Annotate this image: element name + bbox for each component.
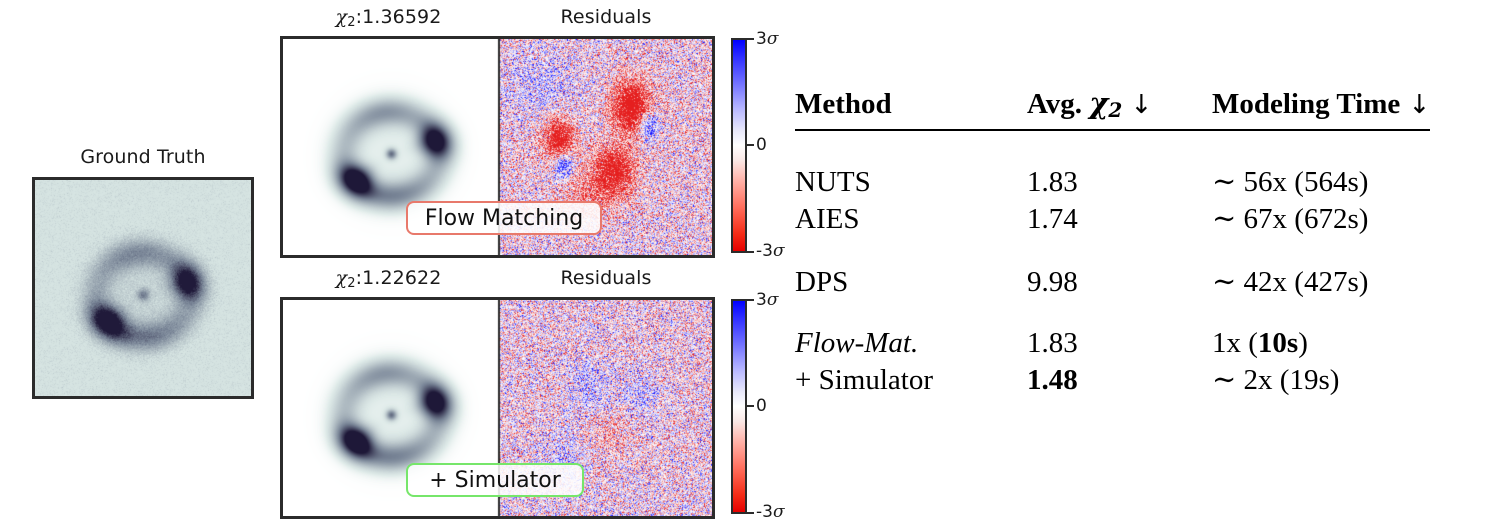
flow-matching-badge-label: Flow Matching xyxy=(425,206,583,231)
chi-subscript: 2 xyxy=(347,15,355,30)
sigma-glyph-top-neg: σ xyxy=(773,241,785,261)
cell-method: + Simulator xyxy=(795,361,1027,398)
time-value-suffix: ) xyxy=(1298,327,1308,359)
simulator-residual-title: Residuals xyxy=(497,267,715,289)
ground-truth-title: Ground Truth xyxy=(32,146,254,168)
header-chi-arrow-icon: ↓ xyxy=(1122,90,1152,120)
time-value: ∼ 42x (427s) xyxy=(1212,266,1368,298)
table-row: Flow-Mat.1.831x (10s) xyxy=(795,326,1430,361)
ground-truth-panel xyxy=(32,177,254,399)
header-method: Method xyxy=(795,86,1027,130)
colorbar-tick-top-zero xyxy=(747,144,754,146)
table-header-row: Method Avg. χ2 ↓ Modeling Time ↓ xyxy=(795,86,1430,130)
colorbar-label-bottom-3sigma: 3σ xyxy=(756,290,778,310)
colorbar-label-top-zero: 0 xyxy=(756,135,767,155)
chi-symbol-2: χ xyxy=(336,267,348,289)
comparison-table: Method Avg. χ2 ↓ Modeling Time ↓ NUTS1.8… xyxy=(795,86,1430,398)
header-modeling-time: Modeling Time ↓ xyxy=(1212,86,1430,130)
table-head: Method Avg. χ2 ↓ Modeling Time ↓ xyxy=(795,86,1430,130)
header-avg-prefix: Avg. xyxy=(1027,88,1089,120)
header-chi-subscript: 2 xyxy=(1108,98,1122,122)
method-label: NUTS xyxy=(795,166,871,198)
flow-matching-badge: Flow Matching xyxy=(406,201,602,235)
table-row: DPS9.98∼ 42x (427s) xyxy=(795,263,1430,300)
chi2-value: 9.98 xyxy=(1027,266,1078,298)
method-label: DPS xyxy=(795,266,848,298)
time-value-prefix: 1x ( xyxy=(1212,327,1258,359)
cell-method: Flow-Mat. xyxy=(795,326,1027,361)
colorbar-tick-bottom-zero xyxy=(747,405,754,407)
chi2-value: 1.74 xyxy=(1027,203,1078,235)
cell-method: AIES xyxy=(795,200,1027,237)
table-header-spacer xyxy=(795,130,1430,163)
header-chi-symbol: χ xyxy=(1089,86,1108,120)
sigma-glyph-bottom: σ xyxy=(767,290,779,310)
figure-root: Ground Truth χ2:1.36592 Residuals Flow M… xyxy=(0,0,1509,532)
chi-subscript-2: 2 xyxy=(347,276,355,291)
cell-modeling-time: ∼ 2x (19s) xyxy=(1212,361,1430,398)
time-value: ∼ 67x (672s) xyxy=(1212,203,1368,235)
table-row: AIES1.74∼ 67x (672s) xyxy=(795,200,1430,237)
method-label: AIES xyxy=(795,203,859,235)
time-value: ∼ 56x (564s) xyxy=(1212,166,1368,198)
chi2-value: 1.83 xyxy=(1027,327,1078,359)
cell-method: DPS xyxy=(795,263,1027,300)
time-value-highlight: 10s xyxy=(1258,327,1298,359)
cell-modeling-time: 1x (10s) xyxy=(1212,326,1430,361)
table-row: NUTS1.83∼ 56x (564s) xyxy=(795,163,1430,200)
colorbar-label-top-3sigma: 3σ xyxy=(756,29,778,49)
header-avg-chi2: Avg. χ2 ↓ xyxy=(1027,86,1212,130)
table-row: + Simulator1.48∼ 2x (19s) xyxy=(795,361,1430,398)
simulator-colorbar: 3σ 0 -3σ xyxy=(731,299,747,514)
simulator-badge: + Simulator xyxy=(406,463,584,497)
colorbar-gradient-top xyxy=(731,38,747,253)
cell-avg-chi2: 1.83 xyxy=(1027,326,1212,361)
cell-modeling-time: ∼ 56x (564s) xyxy=(1212,163,1430,200)
method-label: + Simulator xyxy=(795,364,933,396)
cell-avg-chi2: 1.48 xyxy=(1027,361,1212,398)
sigma-glyph-bottom-neg: σ xyxy=(773,502,785,522)
colorbar-tick-top-3sigma xyxy=(747,38,754,40)
cell-avg-chi2: 1.74 xyxy=(1027,200,1212,237)
results-table: Method Avg. χ2 ↓ Modeling Time ↓ NUTS1.8… xyxy=(795,86,1430,398)
colorbar-tick-top-neg3sigma xyxy=(747,251,754,253)
sigma-glyph-top: σ xyxy=(767,29,779,49)
table-group-spacer xyxy=(795,237,1430,263)
header-time-arrow-icon: ↓ xyxy=(1400,90,1430,120)
colorbar-tick-bottom-neg3sigma xyxy=(747,512,754,514)
simulator-chi-title: χ2:1.22622 xyxy=(280,267,497,291)
cell-avg-chi2: 1.83 xyxy=(1027,163,1212,200)
table-group-spacer xyxy=(795,300,1430,326)
simulator-badge-label: + Simulator xyxy=(429,468,561,493)
colorbar-label-top-neg3sigma: -3σ xyxy=(756,241,785,261)
method-label: Flow-Mat. xyxy=(795,327,918,359)
cell-method: NUTS xyxy=(795,163,1027,200)
chi-value-sim: :1.22622 xyxy=(356,267,442,289)
colorbar-tick-bottom-3sigma xyxy=(747,299,754,301)
colorbar-gradient-bottom xyxy=(731,299,747,514)
chi-value-flow: :1.36592 xyxy=(356,6,442,28)
colorbar-label-bottom-zero: 0 xyxy=(756,396,767,416)
chi-symbol: χ xyxy=(336,6,348,28)
flow-matching-colorbar: 3σ 0 -3σ xyxy=(731,38,747,253)
cell-modeling-time: ∼ 42x (427s) xyxy=(1212,263,1430,300)
cell-avg-chi2: 9.98 xyxy=(1027,263,1212,300)
time-value: ∼ 2x (19s) xyxy=(1212,364,1339,396)
flow-matching-chi-title: χ2:1.36592 xyxy=(280,6,497,30)
chi2-value: 1.83 xyxy=(1027,166,1078,198)
colorbar-label-bottom-neg3sigma: -3σ xyxy=(756,502,785,522)
chi2-value: 1.48 xyxy=(1027,364,1078,396)
header-time-text: Modeling Time xyxy=(1212,88,1400,120)
ground-truth-image xyxy=(35,180,251,396)
cell-modeling-time: ∼ 67x (672s) xyxy=(1212,200,1430,237)
table-body: NUTS1.83∼ 56x (564s)AIES1.74∼ 67x (672s)… xyxy=(795,130,1430,398)
flow-matching-residual-title: Residuals xyxy=(497,6,715,28)
